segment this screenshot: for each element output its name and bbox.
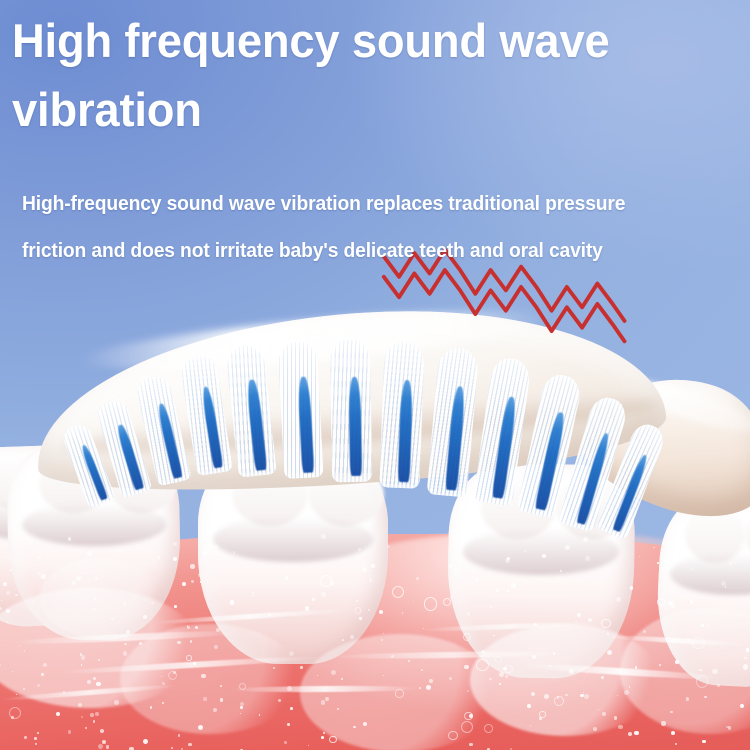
water-droplet (90, 713, 94, 717)
water-droplet (177, 641, 180, 644)
water-droplet (220, 698, 223, 701)
water-droplet (350, 635, 354, 639)
water-droplet (629, 686, 631, 688)
water-bubble (461, 721, 473, 733)
water-droplet (586, 672, 587, 673)
water-droplet (577, 613, 581, 617)
water-droplet (670, 711, 672, 713)
water-droplet (187, 626, 190, 629)
water-droplet (583, 692, 584, 693)
water-bubble (484, 724, 493, 733)
water-droplet (81, 664, 82, 665)
water-droplet (379, 610, 383, 614)
water-droplet (188, 743, 191, 746)
water-droplet (505, 675, 508, 678)
water-droplet (617, 695, 618, 696)
water-droplet (24, 650, 25, 651)
water-droplet (701, 624, 704, 627)
water-droplet (425, 659, 426, 660)
water-droplet (129, 747, 133, 750)
water-droplet (614, 716, 618, 720)
water-droplet (544, 694, 549, 699)
water-droplet (162, 702, 163, 703)
water-droplet (214, 645, 218, 649)
water-droplet (321, 700, 325, 704)
water-droplet (85, 727, 87, 729)
water-droplet (305, 606, 309, 610)
water-droplet (493, 635, 494, 636)
water-droplet (661, 721, 665, 725)
water-droplet (740, 704, 744, 708)
water-droplet (7, 621, 9, 623)
water-droplet (687, 638, 690, 641)
water-droplet (598, 709, 599, 710)
toothbrush-illustration (0, 300, 750, 600)
water-droplet (174, 605, 176, 607)
water-droplet (675, 660, 679, 664)
water-droplet (359, 617, 361, 619)
water-droplet (98, 659, 100, 661)
water-droplet (178, 734, 180, 736)
water-droplet (368, 609, 370, 611)
water-droplet (671, 731, 675, 735)
water-droplet (580, 694, 583, 697)
water-droplet (240, 702, 244, 706)
water-droplet (635, 666, 638, 669)
water-droplet (429, 679, 433, 683)
water-droplet (381, 639, 383, 641)
water-foam (120, 624, 300, 734)
water-bubble (692, 637, 704, 649)
water-droplet (402, 612, 404, 614)
water-droplet (203, 697, 206, 700)
water-droplet (671, 604, 675, 608)
water-bubble (476, 659, 489, 672)
bristle-tuft (330, 340, 372, 483)
water-droplet (391, 655, 394, 658)
product-feature-banner: High frequency sound wave vibration High… (0, 0, 750, 750)
water-bubble (696, 675, 708, 687)
water-droplet (602, 712, 606, 716)
water-droplet (171, 747, 173, 749)
water-droplet (728, 726, 732, 730)
water-droplet (323, 732, 325, 734)
page-title: High frequency sound wave vibration (12, 6, 716, 144)
water-droplet (532, 655, 536, 659)
water-droplet (584, 694, 588, 698)
water-droplet (634, 731, 639, 736)
water-droplet (334, 602, 335, 603)
water-droplet (300, 666, 303, 669)
water-bubble (395, 689, 403, 697)
feature-description-line-2: friction and does not irritate baby's de… (22, 227, 691, 274)
water-bubble (539, 711, 546, 718)
water-bubble (239, 683, 246, 690)
water-bubble (186, 655, 191, 660)
bristle-tuft (379, 341, 424, 488)
water-droplet (553, 652, 555, 654)
water-droplet (216, 628, 220, 632)
water-droplet (287, 723, 290, 726)
water-droplet (628, 732, 632, 736)
water-droplet (139, 642, 142, 645)
water-droplet (704, 696, 707, 699)
water-droplet (123, 651, 127, 655)
water-droplet (342, 639, 344, 641)
feature-description: High-frequency sound wave vibration repl… (22, 180, 691, 274)
water-droplet (201, 674, 205, 678)
water-droplet (325, 697, 329, 701)
water-droplet (80, 653, 82, 655)
water-droplet (95, 712, 99, 716)
water-droplet (607, 650, 612, 655)
water-droplet (290, 707, 293, 710)
water-droplet (124, 643, 127, 646)
water-droplet (534, 623, 537, 626)
water-droplet (93, 720, 95, 722)
water-droplet (706, 624, 709, 627)
water-droplet (268, 613, 271, 616)
water-droplet (68, 730, 72, 734)
water-droplet (19, 645, 20, 646)
water-bubble (504, 665, 512, 673)
water-droplet (220, 685, 222, 687)
bristle-tuft (277, 341, 323, 479)
water-droplet (549, 665, 551, 667)
water-droplet (449, 677, 452, 680)
water-droplet (98, 744, 103, 749)
water-droplet (469, 743, 473, 747)
water-droplet (464, 665, 469, 670)
water-droplet (35, 743, 37, 745)
feature-description-line-1: High-frequency sound wave vibration repl… (22, 180, 691, 227)
water-droplet (499, 683, 501, 685)
water-droplet (78, 703, 82, 707)
water-droplet (408, 660, 410, 662)
water-droplet (746, 648, 750, 652)
water-droplet (659, 664, 661, 666)
water-bubble (554, 696, 563, 705)
water-droplet (56, 712, 60, 716)
water-droplet (81, 655, 86, 660)
water-droplet (624, 690, 629, 695)
